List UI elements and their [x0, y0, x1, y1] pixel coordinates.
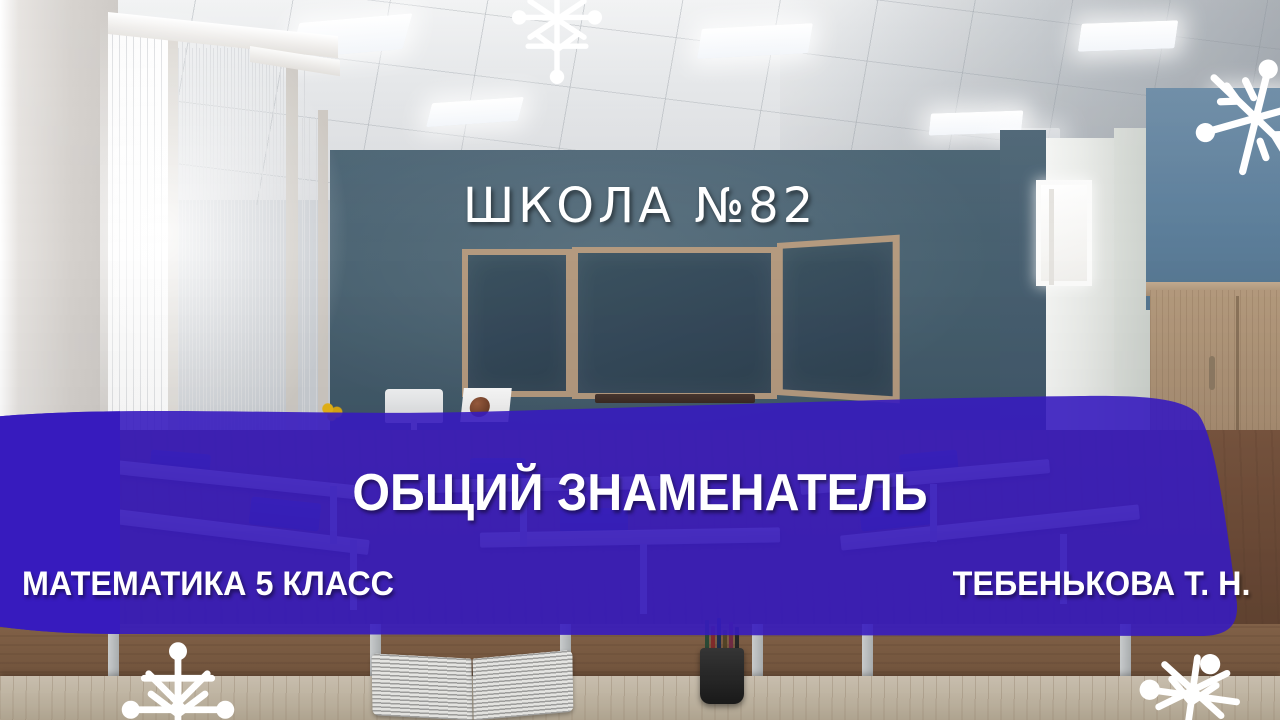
band-text-group: ОБЩИЙ ЗНАМЕНАТЕЛЬ МАТЕМАТИКА 5 КЛАСС ТЕБ…	[0, 0, 1280, 720]
presentation-slide: ШКОЛА №82 ОБЩИЙ ЗНАМЕНАТЕЛЬ МАТЕМАТИКА 5…	[0, 0, 1280, 720]
main-title: ОБЩИЙ ЗНАМЕНАТЕЛЬ	[45, 463, 1235, 523]
subject-label: МАТЕМАТИКА 5 КЛАСС	[22, 565, 394, 604]
author-label: ТЕБЕНЬКОВА Т. Н.	[952, 565, 1250, 604]
